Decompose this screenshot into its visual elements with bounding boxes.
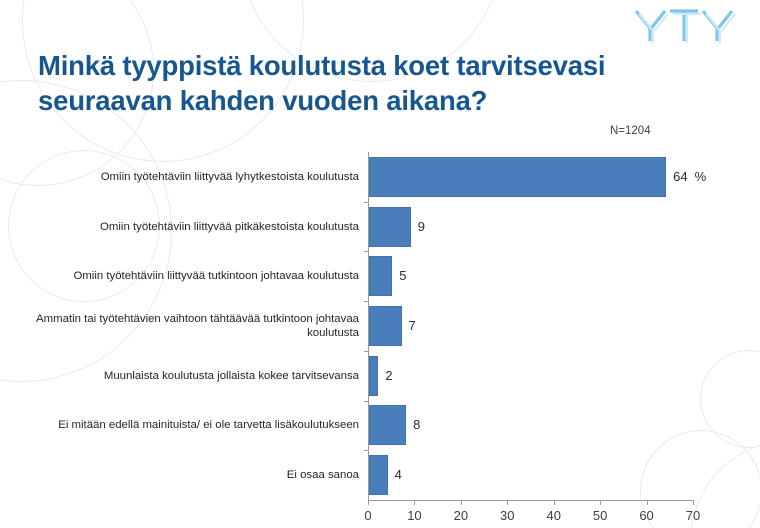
- bar-row: Omiin työtehtäviin liittyvää pitkäkestoi…: [368, 202, 693, 252]
- x-axis-tick: [600, 500, 601, 505]
- y-axis-tick: [364, 450, 368, 451]
- x-axis-tick: [368, 500, 369, 505]
- category-label: Muunlaista koulutusta jollaista kokee ta…: [29, 369, 359, 383]
- bar-row: Omiin työtehtäviin liittyvää lyhytkestoi…: [368, 152, 693, 202]
- yty-logo-icon: [632, 4, 742, 46]
- bar-value-label: 5: [399, 268, 406, 283]
- bar-value-label: 2: [385, 368, 392, 383]
- category-label: Omiin työtehtäviin liittyvää tutkintoon …: [29, 269, 359, 283]
- x-axis-tick: [461, 500, 462, 505]
- bar-row: Ei osaa sanoa4: [368, 450, 693, 500]
- slide-canvas: Minkä tyyppistä koulutusta koet tarvitse…: [0, 0, 760, 528]
- y-axis-tick: [364, 251, 368, 252]
- x-axis-tick: [554, 500, 555, 505]
- category-label: Ei mitään edellä mainituista/ ei ole tar…: [29, 418, 359, 432]
- percent-symbol: %: [695, 169, 707, 184]
- yty-logo: [632, 4, 742, 46]
- x-axis-tick-label: 30: [500, 508, 514, 523]
- bar-row: Ammatin tai työtehtävien vaihtoon tähtää…: [368, 301, 693, 351]
- y-axis-tick: [364, 401, 368, 402]
- bar[interactable]: [369, 405, 406, 445]
- bar[interactable]: [369, 157, 666, 197]
- y-axis-tick: [364, 351, 368, 352]
- plot-area: Omiin työtehtäviin liittyvää lyhytkestoi…: [368, 152, 693, 500]
- x-axis-tick-label: 0: [364, 508, 371, 523]
- x-axis-tick: [414, 500, 415, 505]
- bar-row: Omiin työtehtäviin liittyvää tutkintoon …: [368, 251, 693, 301]
- x-axis-tick: [507, 500, 508, 505]
- bar-row: Ei mitään edellä mainituista/ ei ole tar…: [368, 401, 693, 451]
- x-axis-tick-label: 60: [639, 508, 653, 523]
- bar[interactable]: [369, 256, 392, 296]
- x-axis-tick-label: 20: [454, 508, 468, 523]
- bar-chart: N=1204 Omiin työtehtäviin liittyvää lyhy…: [0, 125, 760, 528]
- category-label: Ammatin tai työtehtävien vaihtoon tähtää…: [29, 312, 359, 340]
- y-axis-tick: [364, 301, 368, 302]
- x-axis-tick: [647, 500, 648, 505]
- bar-value-label: 8: [413, 417, 420, 432]
- title-line-1: Minkä tyyppistä koulutusta koet tarvitse…: [38, 48, 698, 83]
- bar-value-label: 7: [409, 318, 416, 333]
- bar[interactable]: [369, 207, 411, 247]
- title-line-2: seuraavan kahden vuoden aikana?: [38, 83, 698, 118]
- page-title: Minkä tyyppistä koulutusta koet tarvitse…: [38, 48, 698, 118]
- bar[interactable]: [369, 356, 378, 396]
- sample-size-label: N=1204: [610, 125, 651, 137]
- x-axis-line: [368, 500, 693, 501]
- x-axis-tick-label: 10: [407, 508, 421, 523]
- bar-value-label: 9: [418, 219, 425, 234]
- x-axis-tick-label: 50: [593, 508, 607, 523]
- x-axis-tick-label: 40: [546, 508, 560, 523]
- bar-row: Muunlaista koulutusta jollaista kokee ta…: [368, 351, 693, 401]
- category-label: Ei osaa sanoa: [29, 468, 359, 482]
- category-label: Omiin työtehtäviin liittyvää pitkäkestoi…: [29, 220, 359, 234]
- bar[interactable]: [369, 455, 388, 495]
- category-label: Omiin työtehtäviin liittyvää lyhytkestoi…: [29, 170, 359, 184]
- bar[interactable]: [369, 306, 402, 346]
- x-axis-tick: [693, 500, 694, 505]
- bar-value-label: 4: [395, 467, 402, 482]
- y-axis-tick: [364, 202, 368, 203]
- x-axis-tick-label: 70: [686, 508, 700, 523]
- bar-value-label: 64%: [673, 169, 706, 184]
